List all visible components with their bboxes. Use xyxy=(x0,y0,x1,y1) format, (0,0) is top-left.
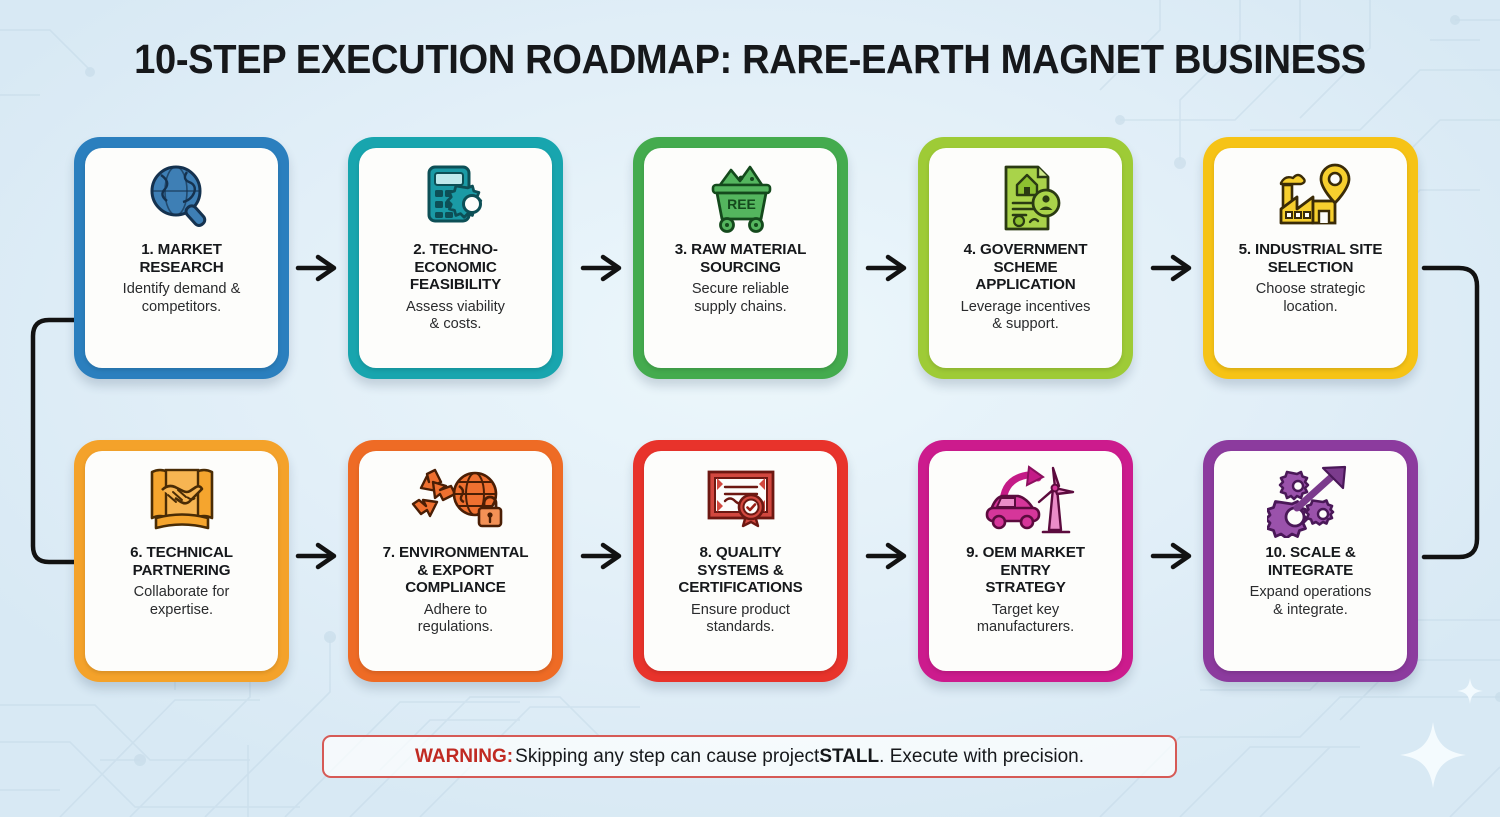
step-desc-line: Target key xyxy=(977,602,1074,620)
svg-text:REE: REE xyxy=(727,196,756,212)
globe-magnifier-icon xyxy=(143,157,221,239)
step-desc-line: Adhere to xyxy=(418,602,493,620)
step-card-4-inner: 4. GOVERNMENT SCHEME APPLICATION Leverag… xyxy=(929,148,1122,368)
handshake-blueprint-icon xyxy=(142,460,222,542)
step-card-2[interactable]: 2. TECHNO- ECONOMIC FEASIBILITY Assess v… xyxy=(348,137,563,379)
step-title-line: 8. QUALITY xyxy=(678,544,802,562)
calculator-gear-icon xyxy=(417,157,495,239)
step-card-1-inner: 1. MARKET RESEARCH Identify demand & com… xyxy=(85,148,278,368)
step-desc-line: competitors. xyxy=(123,299,241,317)
certificate-seal-icon xyxy=(699,460,783,542)
step-desc-line: expertise. xyxy=(134,602,230,620)
step-card-8-desc: Ensure product standards. xyxy=(691,602,790,637)
circuit-background-pattern xyxy=(0,0,1500,817)
step-desc-line: Collaborate for xyxy=(134,584,230,602)
step-card-10[interactable]: 10. SCALE & INTEGRATE Expand operations … xyxy=(1203,440,1418,682)
step-card-9-title: 9. OEM MARKET ENTRY STRATEGY xyxy=(966,544,1085,597)
arrow-step-9-to-10 xyxy=(1149,538,1197,574)
step-title-line: 2. TECHNO- xyxy=(410,241,501,259)
step-desc-line: & integrate. xyxy=(1250,602,1372,620)
step-desc-line: Assess viability xyxy=(406,299,505,317)
sparkle-decoration-small xyxy=(1455,676,1485,706)
step-title-line: 5. INDUSTRIAL SITE xyxy=(1239,241,1383,259)
step-title-line: ECONOMIC xyxy=(410,259,501,277)
step-card-5-inner: 5. INDUSTRIAL SITE SELECTION Choose stra… xyxy=(1214,148,1407,368)
step-card-6[interactable]: 6. TECHNICAL PARTNERING Collaborate for … xyxy=(74,440,289,682)
arrow-step-8-to-9 xyxy=(864,538,912,574)
step-card-5[interactable]: 5. INDUSTRIAL SITE SELECTION Choose stra… xyxy=(1203,137,1418,379)
step-card-6-inner: 6. TECHNICAL PARTNERING Collaborate for … xyxy=(85,451,278,671)
step-desc-line: Secure reliable xyxy=(692,281,789,299)
step-card-9[interactable]: 9. OEM MARKET ENTRY STRATEGY Target key … xyxy=(918,440,1133,682)
step-title-line: INTEGRATE xyxy=(1265,562,1355,580)
step-desc-line: & support. xyxy=(961,316,1091,334)
step-card-3-desc: Secure reliable supply chains. xyxy=(692,281,789,316)
step-card-1[interactable]: 1. MARKET RESEARCH Identify demand & com… xyxy=(74,137,289,379)
step-card-3-title: 3. RAW MATERIAL SOURCING xyxy=(675,241,807,276)
step-title-line: FEASIBILITY xyxy=(410,276,501,294)
step-title-line: 1. MARKET xyxy=(139,241,223,259)
step-title-line: 4. GOVERNMENT xyxy=(964,241,1088,259)
step-title-line: 10. SCALE & xyxy=(1265,544,1355,562)
arrow-step-1-to-2 xyxy=(294,250,342,286)
step-card-4-desc: Leverage incentives & support. xyxy=(961,299,1091,334)
step-desc-line: standards. xyxy=(691,619,790,637)
step-card-8[interactable]: 8. QUALITY SYSTEMS & CERTIFICATIONS Ensu… xyxy=(633,440,848,682)
step-card-5-title: 5. INDUSTRIAL SITE SELECTION xyxy=(1239,241,1383,276)
step-title-line: ENTRY xyxy=(966,562,1085,580)
step-card-2-inner: 2. TECHNO- ECONOMIC FEASIBILITY Assess v… xyxy=(359,148,552,368)
step-card-3-inner: REE 3. RAW MATERIAL SOURCING Secure reli… xyxy=(644,148,837,368)
page-title: 10-STEP EXECUTION ROADMAP: RARE-EARTH MA… xyxy=(53,36,1448,83)
government-document-icon xyxy=(986,157,1066,239)
step-card-8-inner: 8. QUALITY SYSTEMS & CERTIFICATIONS Ensu… xyxy=(644,451,837,671)
step-desc-line: Ensure product xyxy=(691,602,790,620)
step-card-5-desc: Choose strategic location. xyxy=(1256,281,1366,316)
car-windturbine-arrow-icon xyxy=(977,460,1075,542)
arrow-step-3-to-4 xyxy=(864,250,912,286)
step-title-line: SYSTEMS & xyxy=(678,562,802,580)
arrow-step-2-to-3 xyxy=(579,250,627,286)
step-title-line: CERTIFICATIONS xyxy=(678,579,802,597)
warning-text-after: . Execute with precision. xyxy=(879,746,1084,768)
step-title-line: PARTNERING xyxy=(130,562,233,580)
step-card-10-title: 10. SCALE & INTEGRATE xyxy=(1265,544,1355,579)
step-desc-line: Choose strategic xyxy=(1256,281,1366,299)
arrow-step-6-to-7 xyxy=(294,538,342,574)
step-title-line: & EXPORT xyxy=(383,562,529,580)
arrow-step-7-to-8 xyxy=(579,538,627,574)
step-title-line: SCHEME xyxy=(964,259,1088,277)
step-title-line: APPLICATION xyxy=(964,276,1088,294)
step-desc-line: Leverage incentives xyxy=(961,299,1091,317)
step-card-7-inner: 7. ENVIRONMENTAL & EXPORT COMPLIANCE Adh… xyxy=(359,451,552,671)
step-card-2-desc: Assess viability & costs. xyxy=(406,299,505,334)
warning-label: WARNING: xyxy=(415,746,513,768)
sparkle-decoration-bottom-right xyxy=(1396,718,1470,792)
step-title-line: SOURCING xyxy=(675,259,807,277)
step-title-line: 9. OEM MARKET xyxy=(966,544,1085,562)
step-desc-line: regulations. xyxy=(418,619,493,637)
step-card-7-desc: Adhere to regulations. xyxy=(418,602,493,637)
step-card-7[interactable]: 7. ENVIRONMENTAL & EXPORT COMPLIANCE Adh… xyxy=(348,440,563,682)
step-desc-line: supply chains. xyxy=(692,299,789,317)
step-title-line: RESEARCH xyxy=(139,259,223,277)
step-card-10-desc: Expand operations & integrate. xyxy=(1250,584,1372,619)
step-desc-line: & costs. xyxy=(406,316,505,334)
step-title-line: COMPLIANCE xyxy=(383,579,529,597)
step-card-6-desc: Collaborate for expertise. xyxy=(134,584,230,619)
warning-banner: WARNING: Skipping any step can cause pro… xyxy=(322,735,1177,778)
step-card-9-inner: 9. OEM MARKET ENTRY STRATEGY Target key … xyxy=(929,451,1122,671)
factory-location-pin-icon xyxy=(1267,157,1355,239)
arrow-step-4-to-5 xyxy=(1149,250,1197,286)
step-card-7-title: 7. ENVIRONMENTAL & EXPORT COMPLIANCE xyxy=(383,544,529,597)
step-card-3[interactable]: REE 3. RAW MATERIAL SOURCING Secure reli… xyxy=(633,137,848,379)
step-card-9-desc: Target key manufacturers. xyxy=(977,602,1074,637)
step-card-8-title: 8. QUALITY SYSTEMS & CERTIFICATIONS xyxy=(678,544,802,597)
gears-growth-arrow-icon xyxy=(1267,460,1355,542)
step-card-4[interactable]: 4. GOVERNMENT SCHEME APPLICATION Leverag… xyxy=(918,137,1133,379)
warning-text-before: Skipping any step can cause project xyxy=(515,746,819,768)
step-card-4-title: 4. GOVERNMENT SCHEME APPLICATION xyxy=(964,241,1088,294)
step-card-6-title: 6. TECHNICAL PARTNERING xyxy=(130,544,233,579)
step-title-line: 7. ENVIRONMENTAL xyxy=(383,544,529,562)
step-card-2-title: 2. TECHNO- ECONOMIC FEASIBILITY xyxy=(410,241,501,294)
step-title-line: 6. TECHNICAL xyxy=(130,544,233,562)
step-card-1-desc: Identify demand & competitors. xyxy=(123,281,241,316)
step-desc-line: Expand operations xyxy=(1250,584,1372,602)
recycle-globe-lock-icon xyxy=(407,460,505,542)
step-card-10-inner: 10. SCALE & INTEGRATE Expand operations … xyxy=(1214,451,1407,671)
step-title-line: SELECTION xyxy=(1239,259,1383,277)
step-card-1-title: 1. MARKET RESEARCH xyxy=(139,241,223,276)
ree-mine-cart-icon: REE xyxy=(700,157,782,239)
step-desc-line: Identify demand & xyxy=(123,281,241,299)
step-title-line: STRATEGY xyxy=(966,579,1085,597)
step-desc-line: location. xyxy=(1256,299,1366,317)
warning-emphasis: STALL xyxy=(819,746,879,768)
step-desc-line: manufacturers. xyxy=(977,619,1074,637)
step-title-line: 3. RAW MATERIAL xyxy=(675,241,807,259)
